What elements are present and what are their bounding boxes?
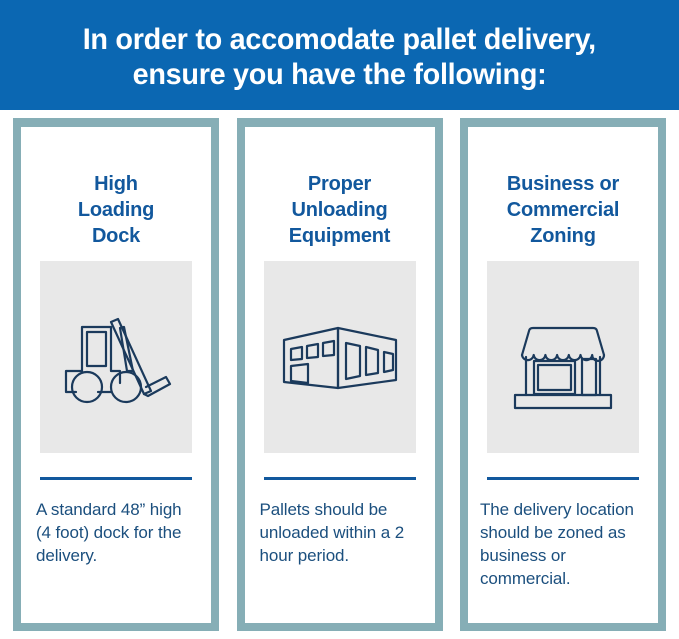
card-title-line-3: Equipment [289,223,391,249]
card-title-line-2: Commercial [507,197,620,223]
requirements-columns: High Loading Dock [13,118,666,631]
requirement-card-proper-unloading-equipment: Proper Unloading Equipment [237,118,443,631]
header-title-line-1: In order to accomodate pallet delivery, [83,22,596,57]
card-title-line-3: Dock [78,223,154,249]
content-board: High Loading Dock [0,110,679,639]
forklift-icon [54,295,178,419]
header-banner: In order to accomodate pallet delivery, … [0,0,679,110]
card-title-line-2: Unloading [289,197,391,223]
icon-panel [40,261,192,453]
card-title: Proper Unloading Equipment [289,171,391,249]
card-title-line-3: Zoning [507,223,620,249]
card-caption: The delivery location should be zoned as… [480,498,646,590]
card-title: High Loading Dock [78,171,154,249]
card-title-line-2: Loading [78,197,154,223]
card-title: Business or Commercial Zoning [507,171,620,249]
icon-panel [487,261,639,453]
card-divider [40,477,192,480]
storefront-icon [501,295,625,419]
card-title-line-1: Business or [507,171,620,197]
card-divider [487,477,639,480]
card-title-line-1: High [78,171,154,197]
card-title-line-1: Proper [289,171,391,197]
header-title-line-2: ensure you have the following: [133,57,547,92]
card-caption: Pallets should be unloaded within a 2 ho… [260,498,420,567]
icon-panel [264,261,416,453]
warehouse-building-icon [278,295,402,419]
card-caption: A standard 48” high (4 foot) dock for th… [36,498,196,567]
requirement-card-business-or-commercial-zoning: Business or Commercial Zoning [460,118,666,631]
card-divider [264,477,416,480]
requirement-card-high-loading-dock: High Loading Dock [13,118,219,631]
